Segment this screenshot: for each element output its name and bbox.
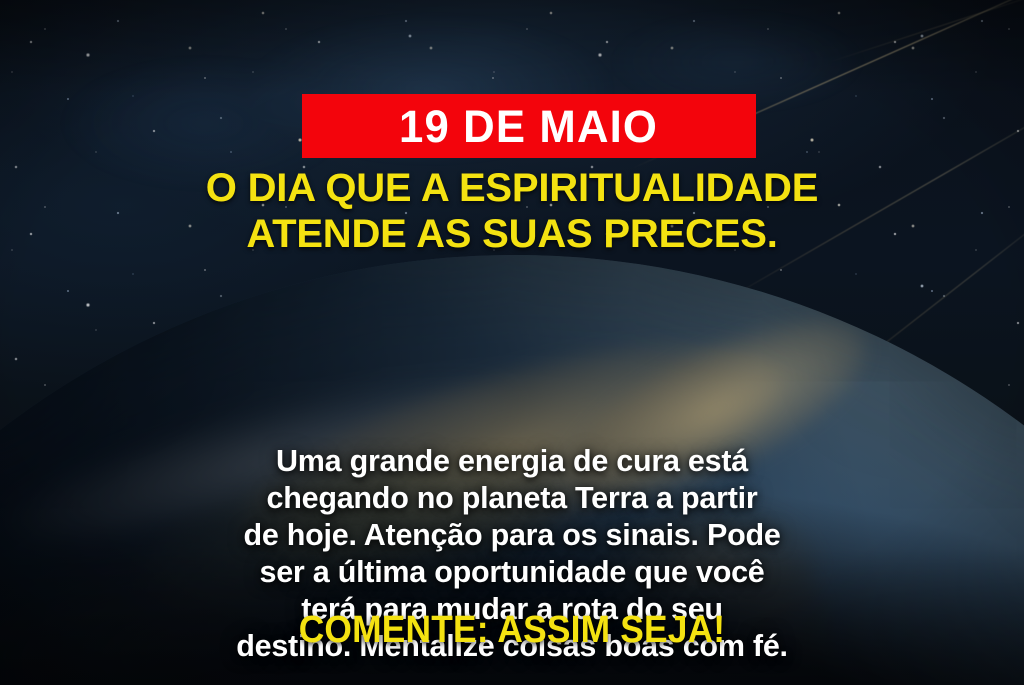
headline: O DIA QUE A ESPIRITUALIDADE ATENDE AS SU…: [0, 166, 1024, 257]
headline-line-1: O DIA QUE A ESPIRITUALIDADE: [54, 166, 970, 212]
date-banner-text: 19 DE MAIO: [399, 104, 658, 149]
body-line-3: de hoje. Atenção para os sinais. Pode: [58, 517, 966, 554]
body-line-4: ser a última oportunidade que você: [58, 554, 966, 591]
social-media-poster: 19 DE MAIO O DIA QUE A ESPIRITUALIDADE A…: [0, 0, 1024, 685]
headline-line-2: ATENDE AS SUAS PRECES.: [54, 212, 970, 258]
poster-content: 19 DE MAIO O DIA QUE A ESPIRITUALIDADE A…: [0, 0, 1024, 685]
date-banner: 19 DE MAIO: [302, 94, 756, 158]
body-line-2: chegando no planeta Terra a partir: [58, 480, 966, 517]
call-to-action-text: COMENTE: ASSIM SEJA!: [36, 611, 988, 649]
body-line-1: Uma grande energia de cura está: [58, 443, 966, 480]
